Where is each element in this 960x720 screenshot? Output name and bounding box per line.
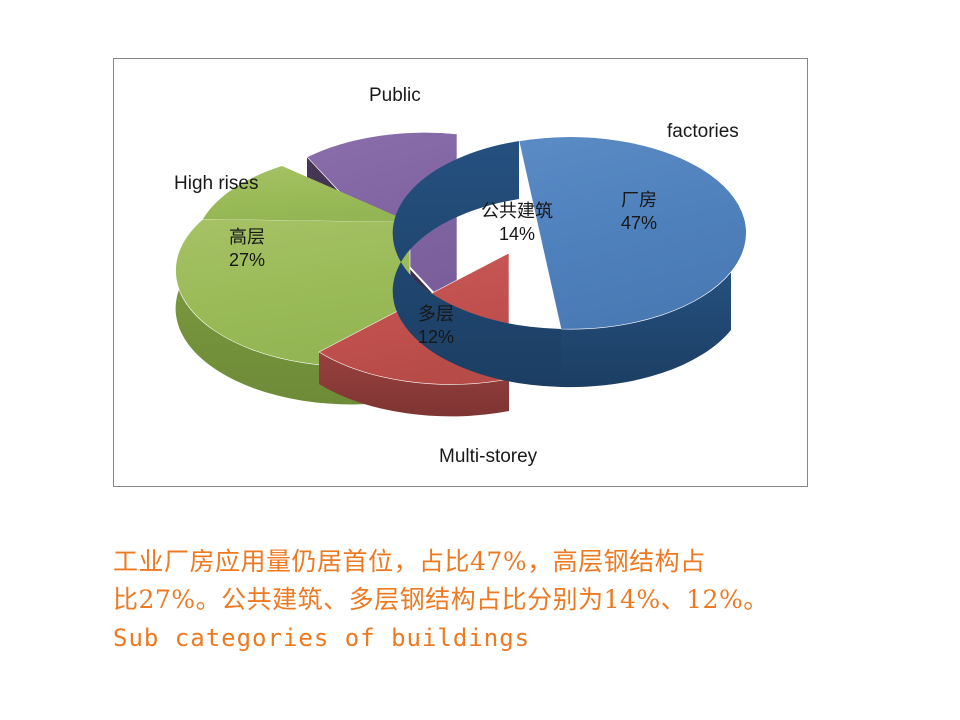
category-label-public: Public [369,85,421,107]
caption-line-1: 工业厂房应用量仍居首位，占比47%，高层钢结构占 [113,543,933,581]
slice-label-public-pct: 14% [499,224,535,244]
slice-label-factories-pct: 47% [621,213,657,233]
slice-label-high-rises-name: 高层 [229,227,265,247]
caption-block: 工业厂房应用量仍居首位，占比47%，高层钢结构占 比27%。公共建筑、多层钢结构… [113,543,933,657]
category-label-multi-storey: Multi-storey [439,446,537,468]
slice-label-multi-storey-pct: 12% [418,327,454,347]
slice-label-factories-name: 厂房 [621,190,657,210]
pie-chart-frame: 公共建筑 14% 高层 27% 多层 12% 厂房 47% Public fac… [113,58,808,487]
caption-line-2: 比27%。公共建筑、多层钢结构占比分别为14%、12%。 [113,581,933,619]
slice-label-high-rises-pct: 27% [229,250,265,270]
caption-line-3: Sub categories of buildings [113,619,933,657]
category-label-high-rises: High rises [174,173,258,195]
slice-label-multi-storey-name: 多层 [418,304,454,324]
category-label-factories: factories [667,121,739,143]
slice-label-public-name: 公共建筑 [481,201,553,221]
